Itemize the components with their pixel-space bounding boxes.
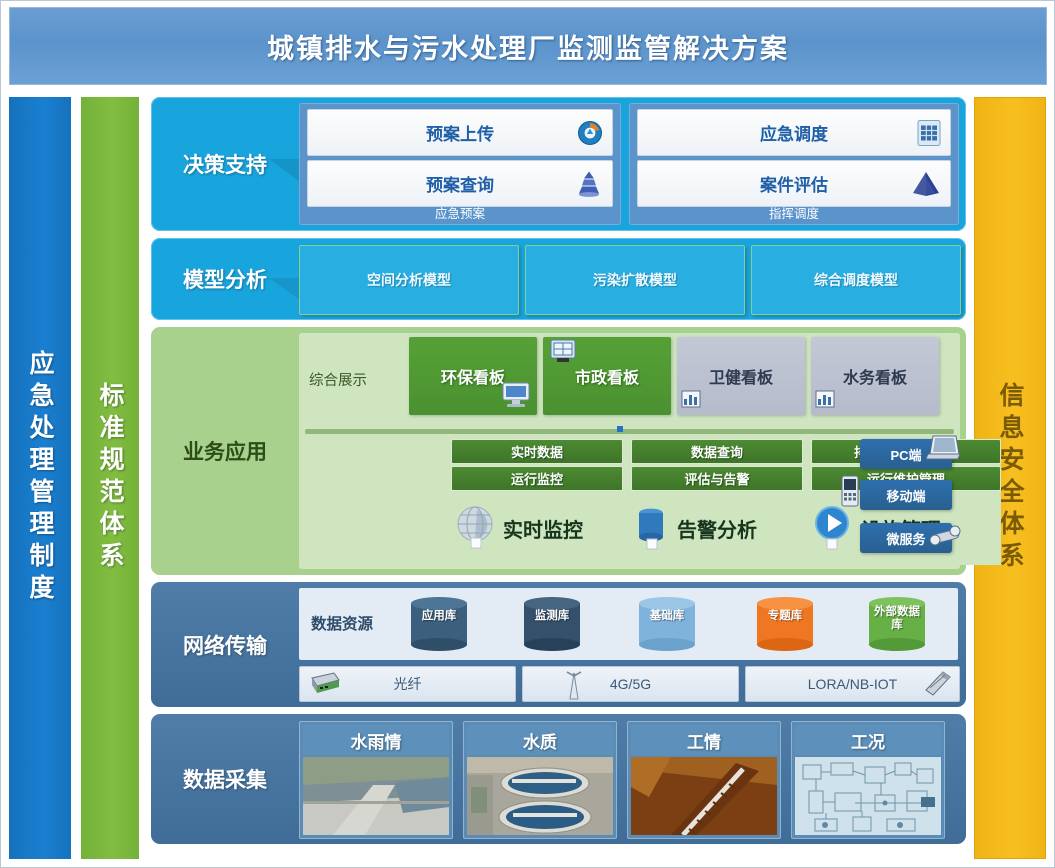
collection-card-working-condition-cap: 工况 bbox=[795, 725, 941, 755]
business-inner-panel: 综合展示 环保看板 市政看板 bbox=[299, 333, 960, 569]
decision-cell-plan-query-label: 预案查询 bbox=[426, 171, 494, 196]
database-monitoring[interactable]: 监测库 bbox=[524, 597, 580, 651]
collection-card-engineering[interactable]: 工情 bbox=[627, 721, 781, 839]
transport-lora-label: LORA/NB-IOT bbox=[808, 676, 897, 692]
db-cap bbox=[524, 597, 580, 610]
laptop-icon bbox=[926, 433, 960, 466]
device-button-microservice-label: 微服务 bbox=[886, 529, 925, 548]
device-button-pc[interactable]: PC端 bbox=[860, 439, 952, 469]
biz-tag-realtime-data[interactable]: 实时数据 bbox=[451, 439, 623, 464]
collection-card-water-quality-cap: 水质 bbox=[467, 725, 613, 755]
collection-card-hydrology[interactable]: 水雨情 bbox=[299, 721, 453, 839]
decision-cell-case-evaluation-label: 案件评估 bbox=[760, 171, 828, 196]
transport-fiber-label: 光纤 bbox=[394, 674, 422, 694]
decision-group-emergency-plan-title: 应急预案 bbox=[299, 203, 621, 222]
db-base bbox=[639, 638, 695, 651]
database-basic[interactable]: 基础库 bbox=[639, 597, 695, 651]
layer-network-transmission: 网络传输 数据资源 应用库 监测库 bbox=[151, 582, 966, 707]
layer-data-collection: 数据采集 水雨情 bbox=[151, 714, 966, 844]
decision-cell-emergency-dispatch-label: 应急调度 bbox=[760, 120, 828, 145]
diagram-canvas: 城镇排水与污水处理厂监测监管解决方案 应急处理管理制度 标准规范体系 信息安全体… bbox=[0, 0, 1055, 868]
riverbank-channel-photo bbox=[303, 757, 449, 835]
layer-data-collection-label: 数据采集 bbox=[151, 714, 299, 844]
board-environment[interactable]: 环保看板 bbox=[409, 337, 537, 415]
biz-tag-assess-alarm[interactable]: 评估与告警 bbox=[631, 466, 803, 491]
model-cell-spatial-label: 空间分析模型 bbox=[367, 270, 451, 290]
database-thematic[interactable]: 专题库 bbox=[757, 597, 813, 651]
model-cell-dispatch-label: 综合调度模型 bbox=[814, 270, 898, 290]
collection-card-hydrology-cap: 水雨情 bbox=[303, 725, 449, 755]
biz-feature-alarm-analysis-label: 告警分析 bbox=[677, 514, 757, 543]
layer-business-application: 业务应用 综合展示 环保看板 bbox=[151, 327, 966, 575]
board-health[interactable]: 卫健看板 bbox=[677, 337, 805, 415]
collection-card-working-condition-label: 工况 bbox=[851, 728, 885, 753]
layer-network-transmission-label: 网络传输 bbox=[151, 582, 299, 707]
collection-card-working-condition[interactable]: 工况 bbox=[791, 721, 945, 839]
device-button-pc-label: PC端 bbox=[890, 445, 921, 464]
board-water[interactable]: 水务看板 bbox=[811, 337, 939, 415]
device-button-microservice[interactable]: 微服务 bbox=[860, 523, 952, 553]
db-base bbox=[524, 638, 580, 651]
data-resource-panel: 数据资源 应用库 监测库 基础库 bbox=[299, 588, 958, 660]
db-cap bbox=[411, 597, 467, 610]
pillar-standard-system: 标准规范体系 bbox=[81, 97, 139, 859]
biz-tag-data-query-label: 数据查询 bbox=[691, 442, 743, 461]
board-municipal[interactable]: 市政看板 bbox=[543, 337, 671, 415]
device-button-mobile[interactable]: 移动端 bbox=[860, 480, 952, 510]
pyramid-layers-icon bbox=[575, 170, 603, 197]
switch-device-icon bbox=[308, 670, 342, 701]
biz-feature-realtime-monitoring[interactable]: 实时监控 bbox=[451, 495, 623, 561]
layer-stack: 决策支持 预案上传 bbox=[151, 97, 966, 859]
layer-model-analysis: 模型分析 空间分析模型 污染扩散模型 综合调度模型 bbox=[151, 238, 966, 320]
data-resource-label: 数据资源 bbox=[311, 612, 373, 634]
model-cell-spatial[interactable]: 空间分析模型 bbox=[299, 245, 519, 315]
sedimentation-tanks-photo bbox=[467, 757, 613, 835]
collection-card-hydrology-label: 水雨情 bbox=[351, 728, 402, 753]
business-display-label: 综合展示 bbox=[309, 369, 367, 390]
model-cell-pollution-label: 污染扩散模型 bbox=[593, 270, 677, 290]
collection-card-engineering-label: 工情 bbox=[687, 728, 721, 753]
biz-feature-realtime-monitoring-label: 实时监控 bbox=[503, 514, 583, 543]
decision-cell-case-evaluation[interactable]: 案件评估 bbox=[637, 160, 951, 207]
database-thematic-label: 专题库 bbox=[757, 610, 813, 623]
antenna-tower-icon bbox=[563, 667, 585, 706]
monitor-icon bbox=[501, 380, 531, 413]
business-column-alarm: 数据查询 评估与告警 bbox=[631, 439, 803, 565]
chart-small-icon bbox=[681, 390, 701, 413]
collection-card-water-quality-label: 水质 bbox=[523, 728, 557, 753]
layer-business-application-label: 业务应用 bbox=[151, 327, 299, 575]
biz-feature-alarm-analysis[interactable]: 告警分析 bbox=[631, 495, 803, 561]
transport-fiber[interactable]: 光纤 bbox=[299, 666, 516, 702]
scada-schematic-photo bbox=[795, 757, 941, 835]
divider-nub bbox=[617, 426, 623, 432]
board-environment-label: 环保看板 bbox=[441, 364, 505, 388]
business-divider bbox=[305, 429, 954, 434]
biz-tag-operation-monitor-label: 运行监控 bbox=[511, 469, 563, 488]
board-municipal-label: 市政看板 bbox=[575, 364, 639, 388]
database-basic-label: 基础库 bbox=[639, 610, 695, 623]
layer-decision-support: 决策支持 预案上传 bbox=[151, 97, 966, 231]
db-base bbox=[869, 638, 925, 651]
collection-card-water-quality[interactable]: 水质 bbox=[463, 721, 617, 839]
buried-pipeline-photo bbox=[631, 757, 777, 835]
rf-module-icon bbox=[921, 668, 955, 703]
db-base bbox=[757, 638, 813, 651]
biz-tag-assess-alarm-label: 评估与告警 bbox=[684, 469, 749, 488]
decision-group-command-dispatch-title: 指挥调度 bbox=[629, 203, 959, 222]
transport-cellular[interactable]: 4G/5G bbox=[522, 666, 739, 702]
handset-icon bbox=[928, 523, 962, 554]
diagram-title-bar: 城镇排水与污水处理厂监测监管解决方案 bbox=[9, 7, 1047, 85]
device-button-mobile-label: 移动端 bbox=[886, 486, 925, 505]
globe-icon bbox=[451, 502, 499, 555]
decision-cell-emergency-dispatch[interactable]: 应急调度 bbox=[637, 109, 951, 156]
db-base bbox=[411, 638, 467, 651]
decision-cell-plan-upload-label: 预案上传 bbox=[426, 120, 494, 145]
transport-row: 光纤 4G/5G LORA/NB-IOT bbox=[299, 666, 958, 700]
database-cylinder-icon bbox=[631, 502, 673, 555]
biz-tag-data-query[interactable]: 数据查询 bbox=[631, 439, 803, 464]
model-cell-dispatch[interactable]: 综合调度模型 bbox=[751, 245, 961, 315]
board-water-label: 水务看板 bbox=[843, 364, 907, 388]
collection-card-engineering-cap: 工情 bbox=[631, 725, 777, 755]
business-column-monitoring: 实时数据 运行监控 bbox=[451, 439, 623, 565]
board-health-label: 卫健看板 bbox=[709, 364, 773, 388]
business-columns-row: 实时数据 运行监控 bbox=[305, 439, 954, 565]
pillar-emergency-management: 应急处理管理制度 bbox=[9, 97, 71, 859]
grid-table-icon bbox=[917, 119, 941, 146]
pyramid-solid-icon bbox=[911, 171, 941, 197]
biz-tag-realtime-data-label: 实时数据 bbox=[511, 442, 563, 461]
database-external[interactable]: 外部数据库 bbox=[869, 597, 925, 651]
transport-cellular-label: 4G/5G bbox=[610, 676, 651, 692]
business-boards-row: 综合展示 环保看板 市政看板 bbox=[305, 337, 954, 425]
decision-cell-plan-upload[interactable]: 预案上传 bbox=[307, 109, 613, 156]
chart-small-icon bbox=[815, 390, 835, 413]
db-cap bbox=[757, 597, 813, 610]
model-cell-pollution[interactable]: 污染扩散模型 bbox=[525, 245, 745, 315]
mobile-phone-icon bbox=[838, 474, 862, 513]
recycle-circle-icon bbox=[577, 120, 603, 146]
database-application-label: 应用库 bbox=[411, 610, 467, 623]
page-title: 城镇排水与污水处理厂监测监管解决方案 bbox=[267, 27, 789, 66]
decision-cell-plan-query[interactable]: 预案查询 bbox=[307, 160, 613, 207]
db-cap bbox=[639, 597, 695, 610]
window-grid-icon bbox=[549, 338, 577, 369]
decision-group-command-dispatch: 应急调度 案件评估 bbox=[629, 103, 959, 225]
transport-lora[interactable]: LORA/NB-IOT bbox=[745, 666, 960, 702]
biz-tag-operation-monitor[interactable]: 运行监控 bbox=[451, 466, 623, 491]
database-application[interactable]: 应用库 bbox=[411, 597, 467, 651]
database-monitoring-label: 监测库 bbox=[524, 610, 580, 623]
database-external-label: 外部数据库 bbox=[869, 606, 925, 632]
pillar-standard-label: 标准规范体系 bbox=[92, 382, 128, 574]
decision-group-emergency-plan: 预案上传 预案查询 bbox=[299, 103, 621, 225]
pillar-emergency-label: 应急处理管理制度 bbox=[22, 350, 58, 606]
